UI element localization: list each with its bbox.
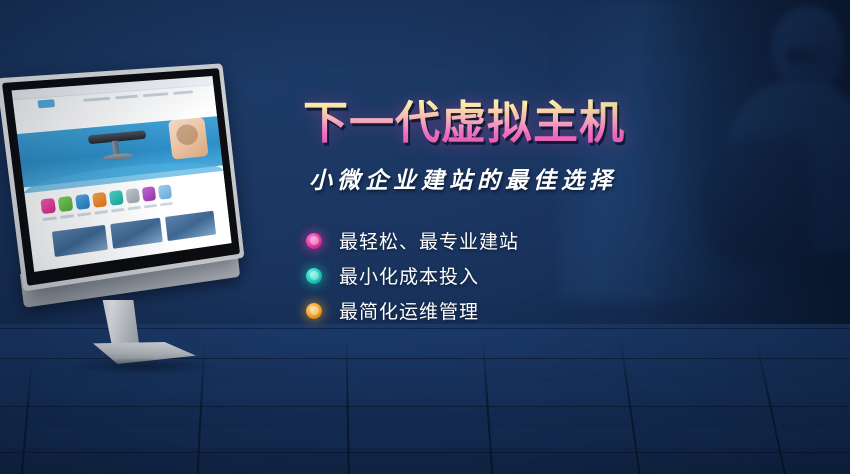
monitor-screen-frame [0, 63, 244, 291]
website-card-row [52, 211, 216, 257]
icon-caption [94, 210, 108, 215]
monitor-screen [12, 76, 232, 272]
icon-orange [92, 192, 107, 208]
icon-caption [43, 216, 57, 221]
icon-caption [77, 212, 91, 217]
floor-horizontal-line [0, 452, 850, 453]
icon-blue [75, 194, 90, 210]
website-product-image [85, 122, 152, 166]
monitor-bezel-inner [2, 68, 240, 286]
website-nav-line [115, 95, 138, 100]
hosting-promo-banner: 下一代虚拟主机 小微企业建站的最佳选择 最轻松、最专业建站 最小化成本投入 最简… [0, 0, 850, 474]
icon-teal [109, 190, 124, 206]
floor-horizontal-line [0, 406, 850, 407]
list-item: 最简化运维管理 [303, 293, 723, 328]
icon-gray [125, 188, 140, 204]
promo-content: 下一代虚拟主机 小微企业建站的最佳选择 最轻松、最专业建站 最小化成本投入 最简… [303, 96, 723, 328]
floor-band [0, 428, 850, 448]
website-nav-line [83, 97, 110, 102]
icon-caption [128, 206, 141, 210]
website-card [165, 211, 216, 241]
person-silhouette [726, 0, 850, 236]
bullet-icon [306, 233, 322, 249]
list-item: 最小化成本投入 [303, 258, 723, 293]
website-card [52, 225, 108, 257]
website-card [110, 218, 163, 249]
page-subtitle: 小微企业建站的最佳选择 [309, 161, 723, 195]
bullet-icon [306, 268, 322, 284]
feature-label: 最轻松、最专业建站 [339, 227, 519, 254]
page-title: 下一代虚拟主机 [303, 96, 723, 149]
icon-caption [111, 208, 124, 212]
monitor-bezel-outer [0, 63, 244, 291]
product-base [103, 152, 133, 161]
website-person-photo [168, 117, 209, 159]
icon-pink [40, 198, 56, 214]
icon-purple [142, 186, 156, 202]
icon-caption [144, 204, 157, 208]
website-nav-line [173, 90, 193, 94]
feature-label: 最小化成本投入 [339, 262, 479, 289]
website-logo [37, 99, 55, 108]
website-topbar [12, 76, 214, 100]
icon-caption [160, 202, 173, 206]
feature-label: 最简化运维管理 [339, 297, 479, 324]
icon-caption [60, 214, 74, 219]
feature-list: 最轻松、最专业建站 最小化成本投入 最简化运维管理 [303, 223, 723, 328]
icon-lightblue [158, 184, 172, 199]
bullet-icon [306, 303, 322, 319]
monitor-shadow [72, 358, 212, 374]
floor-band [0, 382, 850, 404]
silhouette-glasses [786, 48, 838, 64]
icon-green [58, 196, 73, 212]
imac-monitor-illustration [10, 78, 280, 378]
website-nav-line [143, 92, 169, 97]
list-item: 最轻松、最专业建站 [303, 223, 723, 258]
